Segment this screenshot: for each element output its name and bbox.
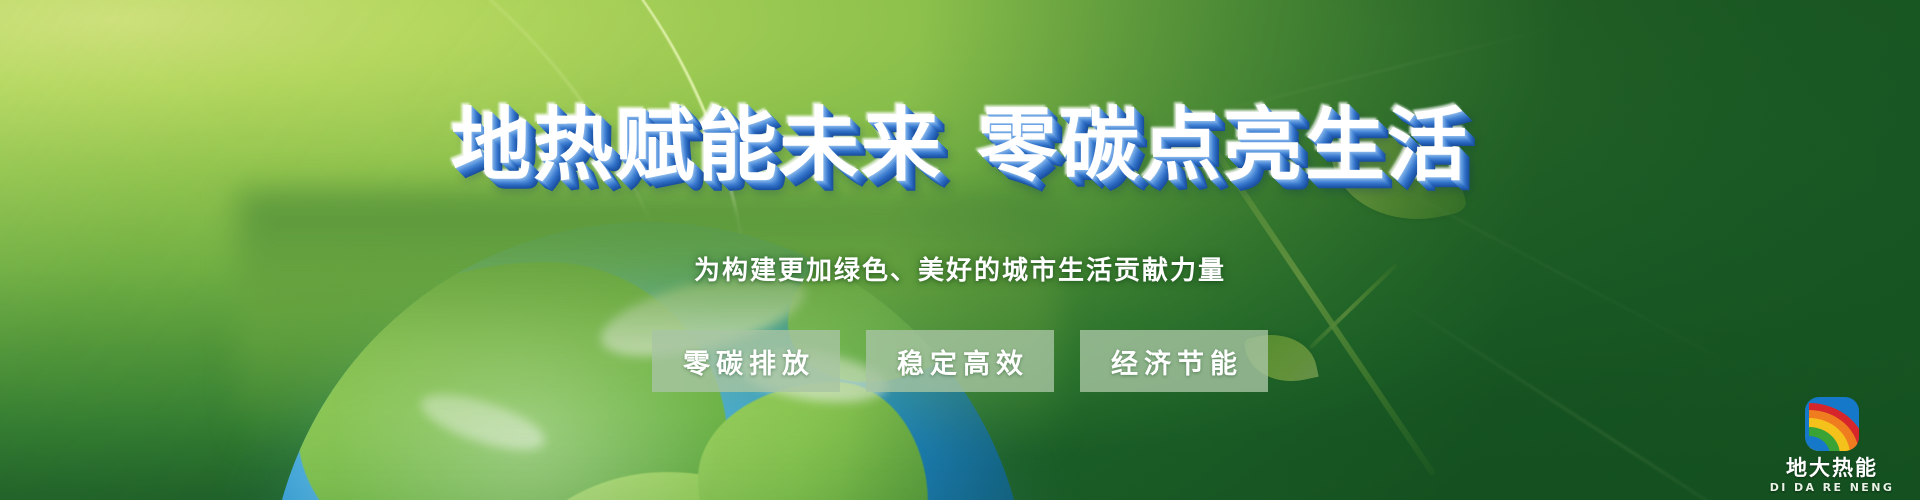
rainbow-arc — [1809, 403, 1859, 451]
feature-badge-stable-efficient[interactable]: 稳定高效 — [866, 330, 1054, 392]
banner-subtitle: 为构建更加绿色、美好的城市生活贡献力量 — [0, 250, 1920, 287]
banner-headline: 地热赋能未来零碳点亮生活 — [0, 102, 1920, 190]
logo-name-chinese: 地大热能 — [1786, 457, 1878, 479]
headline-part-2: 零碳点亮生活 — [977, 99, 1469, 192]
feature-badge-list: 零碳排放 稳定高效 经济节能 — [0, 330, 1920, 392]
company-logo[interactable]: 地大热能 DI DA RE NENG — [1766, 397, 1898, 494]
logo-rainbow-icon — [1805, 397, 1859, 451]
logo-name-pinyin: DI DA RE NENG — [1770, 481, 1895, 494]
hero-banner: 地热赋能未来零碳点亮生活 为构建更加绿色、美好的城市生活贡献力量 零碳排放 稳定… — [0, 0, 1920, 500]
feature-badge-zero-carbon[interactable]: 零碳排放 — [652, 330, 840, 392]
banner-content: 地热赋能未来零碳点亮生活 为构建更加绿色、美好的城市生活贡献力量 零碳排放 稳定… — [0, 0, 1920, 500]
feature-badge-economical[interactable]: 经济节能 — [1080, 330, 1268, 392]
headline-part-1: 地热赋能未来 — [451, 99, 943, 192]
